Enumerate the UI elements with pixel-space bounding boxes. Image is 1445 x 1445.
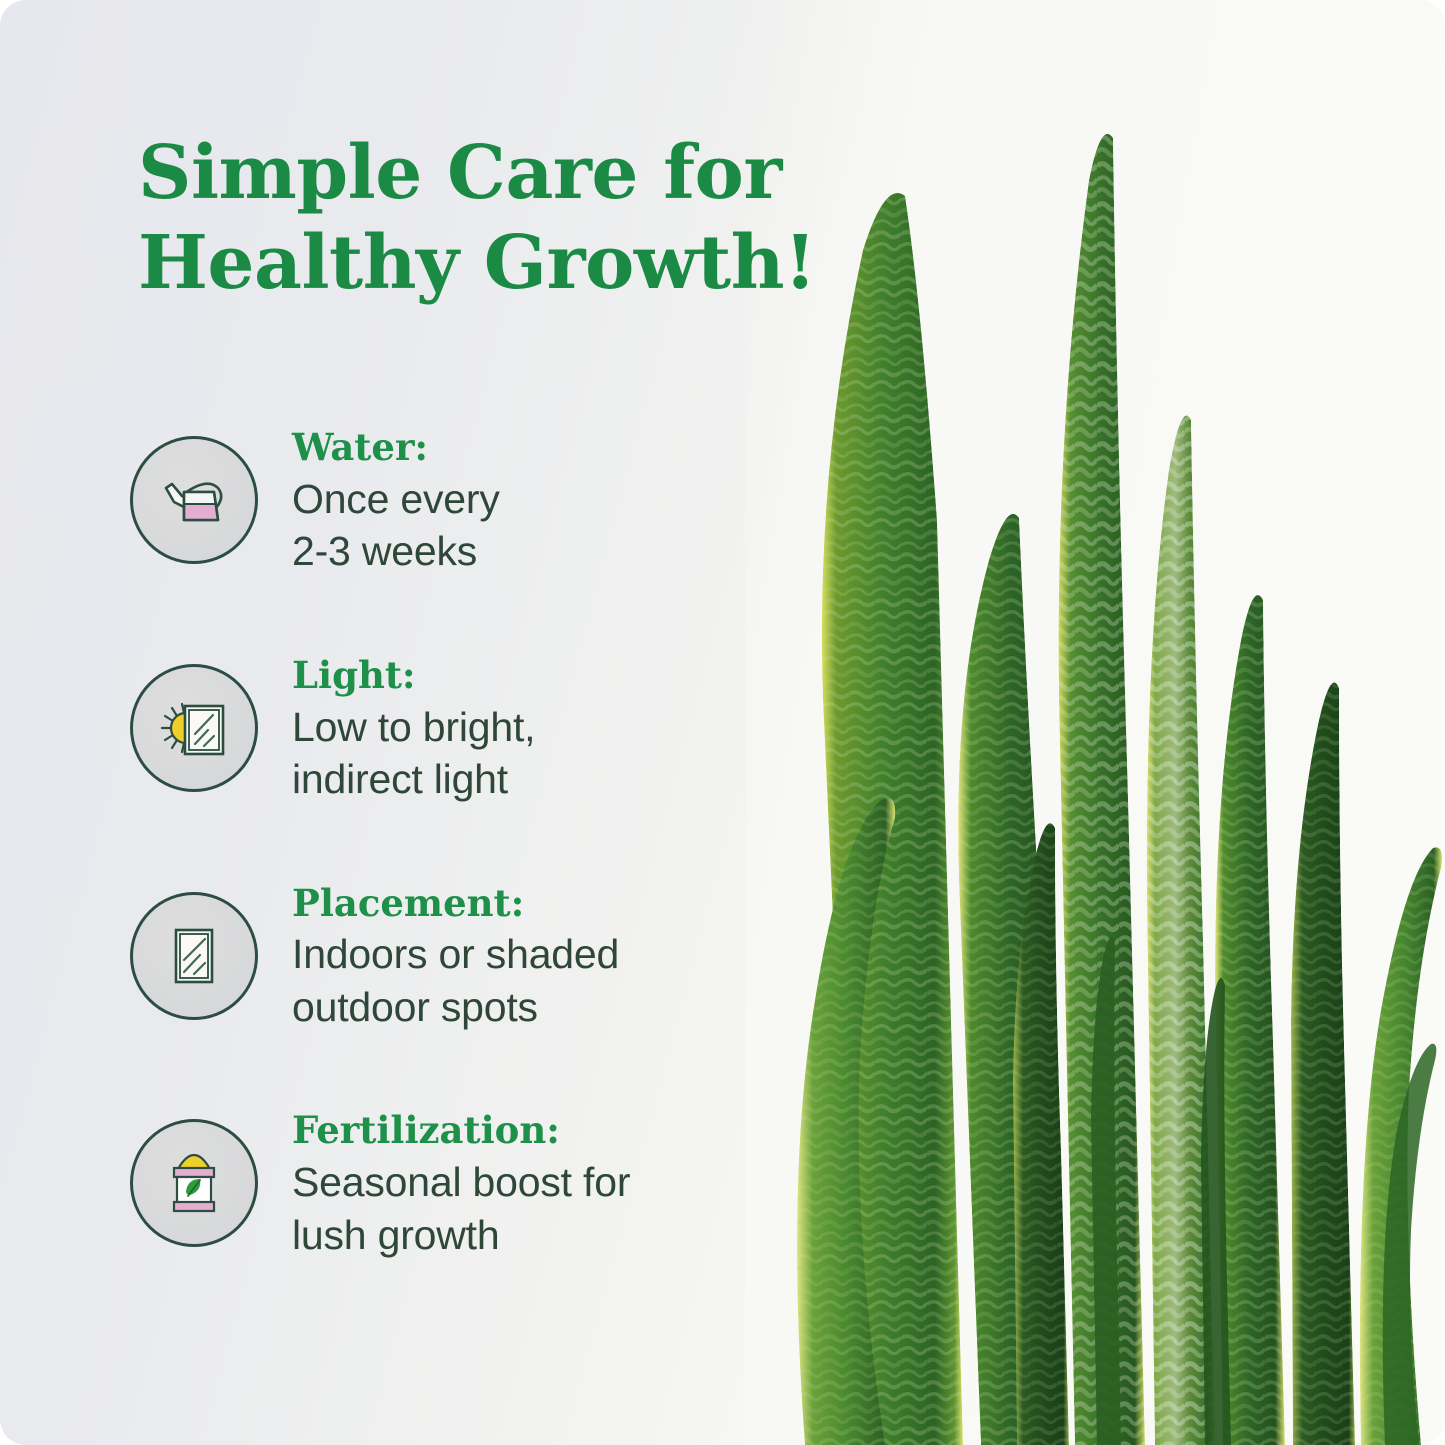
care-desc-line: lush growth [292, 1209, 750, 1261]
care-item-placement: Placement: Indoors or shaded outdoor spo… [130, 884, 750, 1034]
plant-leaf [1205, 580, 1305, 1445]
care-desc-placement: Indoors or shaded outdoor spots [292, 928, 750, 1033]
headline-line-2: Healthy Growth! [138, 218, 878, 308]
content-column: Simple Care for Healthy Growth! [0, 0, 760, 1445]
plant-leaf [945, 500, 1085, 1445]
care-item-fertilization: Fertilization: Seasonal boost for lush g… [130, 1111, 750, 1261]
care-item-light: Light: Low to bright, indirect light [130, 656, 750, 806]
care-term-light: Light: [292, 656, 750, 695]
plant-leaf [1280, 660, 1370, 1445]
plant-leaf [1345, 840, 1445, 1445]
plant-leaf [775, 780, 915, 1445]
care-desc-line: Indoors or shaded [292, 928, 750, 980]
care-desc-line: Low to bright, [292, 701, 750, 753]
window-icon [130, 892, 258, 1020]
plant-leaf [1091, 937, 1121, 1445]
page-title: Simple Care for Healthy Growth! [138, 128, 878, 309]
care-desc-line: Once every [292, 473, 750, 525]
care-item-water: Water: Once every 2-3 weeks [130, 428, 750, 578]
care-term-water: Water: [292, 428, 750, 467]
fertilizer-bag-icon [130, 1119, 258, 1247]
headline-line-1: Simple Care for [138, 128, 878, 218]
plant-leaf [1383, 1044, 1437, 1445]
plant-leaf [1045, 120, 1165, 1445]
plant-leaf [1135, 400, 1235, 1445]
care-desc-water: Once every 2-3 weeks [292, 473, 750, 578]
care-desc-line: 2-3 weeks [292, 525, 750, 577]
care-desc-light: Low to bright, indirect light [292, 701, 750, 806]
care-desc-fertilization: Seasonal boost for lush growth [292, 1156, 750, 1261]
care-desc-line: indirect light [292, 753, 750, 805]
care-info-card: Simple Care for Healthy Growth! [0, 0, 1445, 1445]
care-term-placement: Placement: [292, 884, 750, 923]
care-desc-line: Seasonal boost for [292, 1156, 750, 1208]
plant-leaf [1003, 810, 1083, 1445]
care-desc-line: outdoor spots [292, 981, 750, 1033]
sun-window-icon [130, 664, 258, 792]
care-instructions-list: Water: Once every 2-3 weeks [130, 428, 750, 1261]
plant-leaf [805, 180, 985, 1445]
watering-can-icon [130, 436, 258, 564]
care-term-fertilization: Fertilization: [292, 1111, 750, 1150]
plant-leaf [1201, 978, 1231, 1445]
